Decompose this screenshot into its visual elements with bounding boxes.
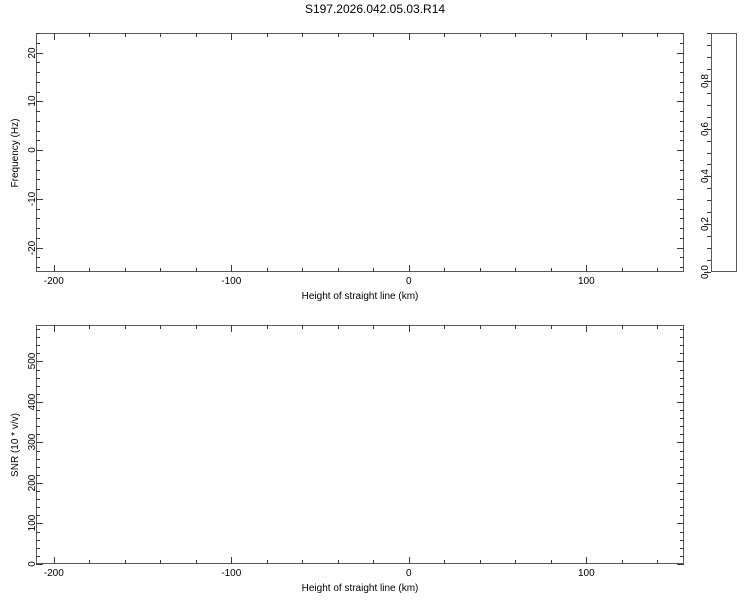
xtick-minor bbox=[551, 560, 552, 564]
xtick-top bbox=[551, 325, 552, 329]
xtick-label: -200 bbox=[38, 276, 70, 287]
ytick-minor bbox=[36, 72, 40, 73]
ytick-right bbox=[680, 491, 684, 492]
ytick-right bbox=[680, 378, 684, 379]
xtick-top bbox=[231, 325, 232, 332]
xtick-minor bbox=[622, 268, 623, 272]
ytick-minor bbox=[36, 418, 40, 419]
xtick-minor bbox=[480, 268, 481, 272]
ytick-label: -10 bbox=[27, 183, 38, 215]
ytick-right bbox=[680, 418, 684, 419]
xtick-minor bbox=[409, 265, 410, 272]
xtick-minor bbox=[89, 560, 90, 564]
ytick-right bbox=[680, 43, 684, 44]
xtick-minor bbox=[551, 268, 552, 272]
ytick-minor bbox=[36, 378, 40, 379]
ytick-right bbox=[680, 540, 684, 541]
ytick-label: 0 bbox=[27, 548, 38, 580]
colorbar-frame bbox=[711, 33, 737, 272]
xtick-label: -100 bbox=[215, 568, 247, 579]
ytick-minor bbox=[36, 329, 40, 330]
xtick-minor bbox=[409, 557, 410, 564]
xtick-label: 100 bbox=[570, 276, 602, 287]
xtick-label: 100 bbox=[570, 568, 602, 579]
ytick-right bbox=[677, 199, 684, 200]
ytick-right bbox=[680, 345, 684, 346]
ytick-minor bbox=[36, 33, 40, 34]
xtick-minor bbox=[444, 560, 445, 564]
ytick-minor bbox=[36, 82, 40, 83]
colorbar-tick bbox=[707, 200, 711, 201]
xtick-top bbox=[231, 33, 232, 40]
xtick-top bbox=[622, 325, 623, 329]
ytick-right bbox=[680, 228, 684, 229]
ytick-right bbox=[680, 111, 684, 112]
xtick-minor bbox=[231, 557, 232, 564]
colorbar-tick-label: 0.8 bbox=[700, 67, 711, 95]
xtick-label: -100 bbox=[215, 276, 247, 287]
ytick-right bbox=[680, 170, 684, 171]
ytick-right bbox=[680, 179, 684, 180]
xtick-top bbox=[622, 33, 623, 37]
xtick-minor bbox=[267, 268, 268, 272]
xtick-minor bbox=[125, 560, 126, 564]
ytick-right bbox=[680, 532, 684, 533]
ytick-right bbox=[680, 92, 684, 93]
ytick-label: 400 bbox=[27, 386, 38, 418]
xtick-top bbox=[267, 325, 268, 329]
xtick-top bbox=[302, 33, 303, 37]
xtick-minor bbox=[586, 265, 587, 272]
ytick-minor bbox=[36, 218, 40, 219]
xtick-top bbox=[409, 325, 410, 332]
ytick-right bbox=[680, 426, 684, 427]
snr-xlabel: Height of straight line (km) bbox=[298, 583, 422, 594]
ytick-minor bbox=[36, 179, 40, 180]
xtick-top bbox=[444, 33, 445, 37]
spectrogram-xlabel: Height of straight line (km) bbox=[298, 291, 422, 302]
xtick-top bbox=[657, 325, 658, 329]
colorbar-tick-label: 0.6 bbox=[700, 115, 711, 143]
xtick-top bbox=[302, 325, 303, 329]
colorbar-tick-label: 0.4 bbox=[700, 162, 711, 190]
ytick-minor bbox=[36, 337, 40, 338]
xtick-minor bbox=[54, 557, 55, 564]
ytick-right bbox=[680, 218, 684, 219]
ytick-right bbox=[680, 507, 684, 508]
xtick-label: 0 bbox=[393, 276, 425, 287]
ytick-right bbox=[680, 556, 684, 557]
xtick-label: 0 bbox=[393, 568, 425, 579]
ytick-minor bbox=[36, 131, 40, 132]
ytick-right bbox=[680, 548, 684, 549]
ytick-right bbox=[680, 140, 684, 141]
xtick-top bbox=[515, 33, 516, 37]
xtick-top bbox=[160, 325, 161, 329]
ytick-right bbox=[680, 33, 684, 34]
xtick-top bbox=[267, 33, 268, 37]
xtick-top bbox=[89, 33, 90, 37]
xtick-minor bbox=[515, 268, 516, 272]
ytick-right bbox=[677, 483, 684, 484]
xtick-minor bbox=[480, 560, 481, 564]
ytick-right bbox=[680, 451, 684, 452]
ytick-right bbox=[677, 101, 684, 102]
ytick-right bbox=[677, 53, 684, 54]
colorbar-tick bbox=[707, 105, 711, 106]
ytick-right bbox=[680, 238, 684, 239]
ytick-label: 100 bbox=[27, 507, 38, 539]
ytick-right bbox=[680, 337, 684, 338]
xtick-top bbox=[586, 325, 587, 332]
xtick-minor bbox=[657, 560, 658, 564]
xtick-minor bbox=[160, 560, 161, 564]
ytick-right bbox=[677, 361, 684, 362]
colorbar-tick-label: 0.2 bbox=[700, 210, 711, 238]
ytick-right bbox=[677, 248, 684, 249]
ytick-label: 200 bbox=[27, 467, 38, 499]
xtick-top bbox=[196, 325, 197, 329]
snr-axes-frame bbox=[36, 325, 684, 564]
ytick-label: 10 bbox=[27, 85, 38, 117]
ytick-right bbox=[680, 467, 684, 468]
ytick-minor bbox=[36, 170, 40, 171]
ytick-right bbox=[680, 499, 684, 500]
ytick-label: 300 bbox=[27, 426, 38, 458]
ytick-right bbox=[680, 160, 684, 161]
xtick-minor bbox=[302, 268, 303, 272]
colorbar-tick bbox=[707, 45, 711, 46]
xtick-top bbox=[89, 325, 90, 329]
colorbar-tick bbox=[707, 153, 711, 154]
ytick-minor bbox=[36, 499, 40, 500]
ytick-right bbox=[680, 410, 684, 411]
xtick-top bbox=[409, 33, 410, 40]
ytick-right bbox=[680, 189, 684, 190]
xtick-minor bbox=[515, 560, 516, 564]
ytick-minor bbox=[36, 459, 40, 460]
spectrogram-axes-frame bbox=[36, 33, 684, 272]
xtick-top bbox=[125, 325, 126, 329]
xtick-top bbox=[551, 33, 552, 37]
xtick-minor bbox=[196, 560, 197, 564]
ytick-minor bbox=[36, 228, 40, 229]
xtick-top bbox=[586, 33, 587, 40]
xtick-top bbox=[338, 33, 339, 37]
ytick-label: -20 bbox=[27, 232, 38, 264]
xtick-top bbox=[338, 325, 339, 329]
xtick-top bbox=[480, 325, 481, 329]
ytick-right bbox=[680, 459, 684, 460]
ytick-right bbox=[677, 150, 684, 151]
xtick-top bbox=[444, 325, 445, 329]
xtick-minor bbox=[231, 265, 232, 272]
xtick-top bbox=[373, 33, 374, 37]
ytick-right bbox=[680, 434, 684, 435]
ytick-right bbox=[680, 386, 684, 387]
ytick-right bbox=[680, 72, 684, 73]
xtick-minor bbox=[196, 268, 197, 272]
ytick-minor bbox=[36, 267, 40, 268]
ytick-right bbox=[680, 370, 684, 371]
xtick-minor bbox=[586, 557, 587, 564]
xtick-minor bbox=[54, 265, 55, 272]
xtick-minor bbox=[267, 560, 268, 564]
ytick-right bbox=[680, 515, 684, 516]
xtick-minor bbox=[373, 268, 374, 272]
ytick-right bbox=[677, 564, 684, 565]
xtick-minor bbox=[657, 268, 658, 272]
ytick-minor bbox=[36, 121, 40, 122]
xtick-top bbox=[125, 33, 126, 37]
ytick-right bbox=[680, 121, 684, 122]
xtick-label: -200 bbox=[38, 568, 70, 579]
colorbar-tick-label: 0.0 bbox=[700, 258, 711, 286]
xtick-minor bbox=[89, 268, 90, 272]
ytick-right bbox=[677, 523, 684, 524]
ytick-right bbox=[677, 402, 684, 403]
ytick-right bbox=[680, 82, 684, 83]
xtick-top bbox=[196, 33, 197, 37]
snr-ylabel: SNR (10 * v/v) bbox=[10, 397, 21, 493]
xtick-top bbox=[515, 325, 516, 329]
ytick-right bbox=[680, 353, 684, 354]
ytick-label: 0 bbox=[27, 134, 38, 166]
ytick-right bbox=[680, 329, 684, 330]
xtick-top bbox=[54, 33, 55, 40]
ytick-label: 20 bbox=[27, 37, 38, 69]
xtick-top bbox=[480, 33, 481, 37]
xtick-minor bbox=[338, 560, 339, 564]
xtick-minor bbox=[302, 560, 303, 564]
xtick-minor bbox=[338, 268, 339, 272]
colorbar-tick bbox=[707, 57, 711, 58]
xtick-minor bbox=[444, 268, 445, 272]
colorbar-tick bbox=[707, 33, 711, 34]
xtick-minor bbox=[373, 560, 374, 564]
colorbar-tick bbox=[707, 248, 711, 249]
ytick-right bbox=[680, 131, 684, 132]
figure-title: S197.2026.042.05.03.R14 bbox=[0, 2, 750, 16]
xtick-top bbox=[373, 325, 374, 329]
xtick-top bbox=[54, 325, 55, 332]
ytick-right bbox=[680, 62, 684, 63]
spectrogram-ylabel: Frequency (Hz) bbox=[10, 105, 21, 201]
ytick-right bbox=[680, 394, 684, 395]
xtick-top bbox=[657, 33, 658, 37]
ytick-minor bbox=[36, 540, 40, 541]
ytick-right bbox=[680, 267, 684, 268]
figure-root: S197.2026.042.05.03.R14 -200-1000100-20-… bbox=[0, 0, 750, 600]
xtick-top bbox=[160, 33, 161, 37]
xtick-minor bbox=[160, 268, 161, 272]
ytick-right bbox=[680, 209, 684, 210]
ytick-right bbox=[677, 442, 684, 443]
ytick-right bbox=[680, 257, 684, 258]
ytick-label: 500 bbox=[27, 345, 38, 377]
xtick-minor bbox=[622, 560, 623, 564]
ytick-right bbox=[680, 475, 684, 476]
xtick-minor bbox=[125, 268, 126, 272]
